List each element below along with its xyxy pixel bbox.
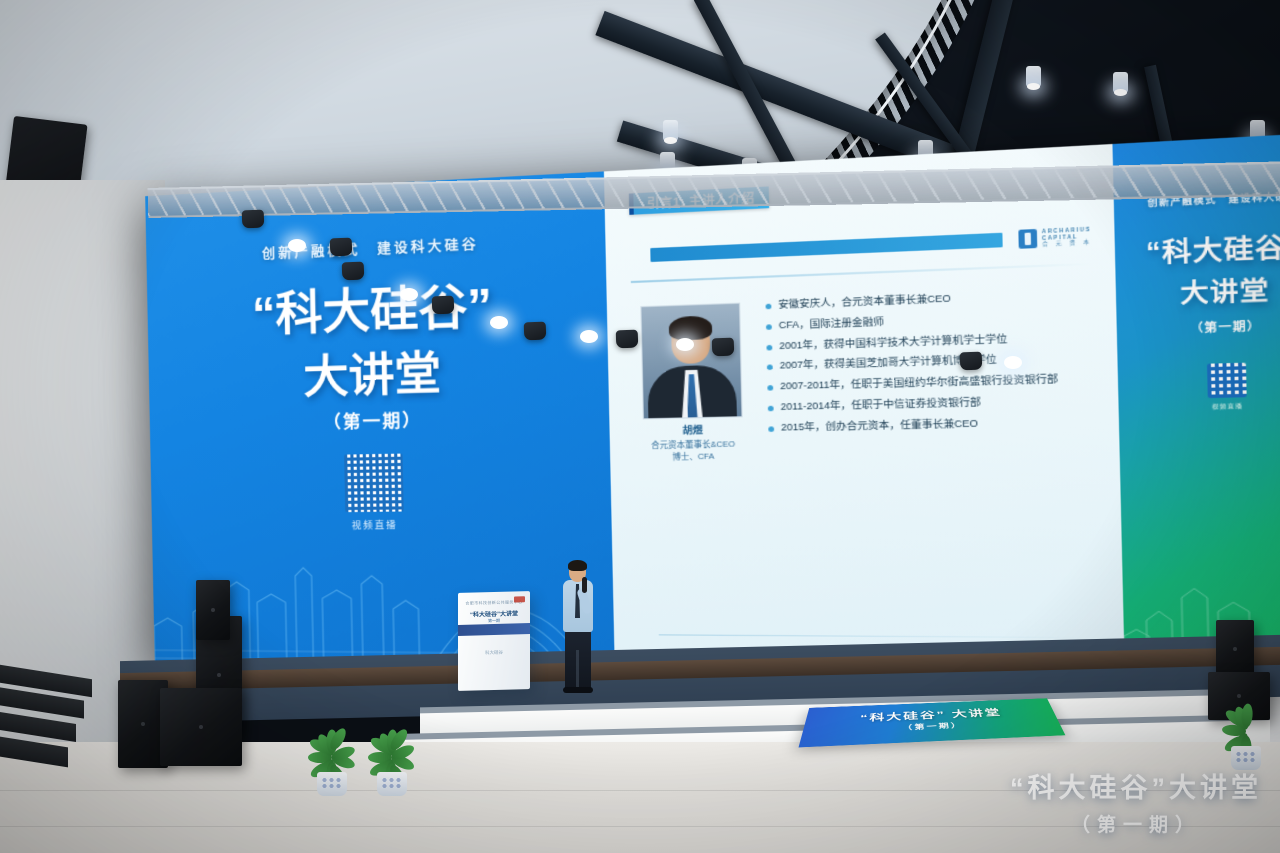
archarius-capital-logo: ARCHARIUS CAPITAL 合 元 资 本 [1018,227,1092,249]
potted-plant [352,726,432,796]
podium-lower-label: 科大硅谷 [458,649,530,657]
bio-bullet-item: 2007-2011年，任职于美国纽约华尔街高盛银行投资银行部 [767,372,1093,393]
stage-event-photo: 创新产融模式 建设科大硅谷 “科大硅谷” 大讲堂 （第一期） 视频直播 引言1:… [0,0,1280,853]
truss-spotlight [676,338,694,351]
bullet-dot-icon [767,385,773,391]
handheld-microphone [582,577,587,593]
slide-divider-top [631,263,1093,283]
bio-bullet-text: 安徽安庆人，合元资本董事长兼CEO [778,293,951,312]
speaker-name-block: 胡煜 合元资本董事长&CEO 博士、CFA [627,421,760,464]
photo-watermark: “科大硅谷”大讲堂 （第一期） [1010,772,1262,837]
stage-speaker-cabinet [1216,620,1254,678]
qr-caption-left: 视频直播 [152,516,612,533]
bio-bullet-item: 2015年，创办合元资本，任董事长兼CEO [768,415,1094,434]
presenter-shoes [563,687,593,693]
bullet-dot-icon [766,304,772,310]
speaker-credentials: 博士、CFA [628,450,760,464]
portrait-hair [669,316,713,341]
plant-pot [377,772,407,796]
bio-bullet-item: CFA，国际注册金融师 [766,309,1092,332]
bio-bullet-item: 2001年，获得中国科学技术大学计算机学士学位 [766,330,1092,352]
bullet-dot-icon [766,324,772,330]
ceiling-downlight [663,120,678,141]
moving-head-light [330,238,353,257]
panel-left-tagline: 创新产融模式 建设科大硅谷 [146,227,605,267]
lectern-podium: 合肥市科技创新公共服务中心 “科大硅谷”大讲堂 第一期 科大硅谷 [458,591,530,691]
bio-bullet-item: 安徽安庆人，合元资本董事长兼CEO [765,288,1090,312]
bio-bullet-text: CFA，国际注册金融师 [779,316,885,332]
panel-right-title: “科大硅谷” [1115,223,1280,271]
slide-divider-bottom [659,634,1086,638]
truss-spotlight [400,288,418,301]
plant-leaves [1206,700,1280,752]
bullet-dot-icon [768,405,774,411]
bullet-dot-icon [767,365,773,371]
truss-spotlight [1004,356,1022,369]
bio-bullet-item: 2007年，获得美国芝加哥大学计算机博士学位 [767,351,1093,373]
bio-bullet-item: 2011-2014年，任职于中信证券投资银行部 [768,394,1094,414]
moving-head-light [242,210,265,229]
bullet-dot-icon [766,344,772,350]
plant-pot [317,772,347,796]
moving-head-light [712,338,735,357]
truss-spotlight [580,330,598,343]
panel-right-subtitle: （第一期） [1117,314,1280,338]
bio-bullet-text: 2011-2014年，任职于中信证券投资银行部 [780,396,981,413]
speaker-bio-bullet-list: 安徽安庆人，合元资本董事长兼CEO CFA，国际注册金融师 2001年，获得中国… [765,288,1094,442]
qr-code-right-panel[interactable] [1207,363,1247,398]
moving-head-light [524,322,547,341]
speaker-portrait-photo [640,303,742,420]
presenter-person [557,562,599,694]
moving-head-light [342,262,365,281]
ceiling-downlight [1026,66,1041,87]
logo-text: ARCHARIUS CAPITAL 合 元 资 本 [1042,227,1092,248]
logo-mark-icon [1018,229,1037,249]
plant-leaves [352,726,432,778]
moving-head-light [432,296,455,315]
stage-speaker-cabinet [196,580,230,640]
led-panel-right: 创新产融模式 建设科大硅谷 “科大硅谷” 大讲堂 （第一期） 视频直播 [1112,132,1280,679]
logo-cn-line: 合 元 资 本 [1042,239,1092,247]
bio-bullet-text: 2001年，获得中国科学技术大学计算机学士学位 [779,333,1007,352]
led-panel-center-slide: 引言1: 主讲人介绍 ARCHARIUS CAPITAL 合 元 资 本 [604,144,1125,677]
moving-head-light [960,352,983,371]
plant-pot [1231,746,1261,770]
ceiling-downlight [1113,72,1128,93]
stage-subwoofer-cabinet [160,688,242,766]
bullet-dot-icon [768,426,774,432]
qr-caption-right: 视频直播 [1119,400,1280,413]
panel-right-title-2: 大讲堂 [1116,267,1280,312]
bio-bullet-text: 2015年，创办合元资本，任董事长兼CEO [781,417,978,433]
bio-bullet-text: 2007-2011年，任职于美国纽约华尔街高盛银行投资银行部 [780,373,1058,392]
watermark-line-1: “科大硅谷”大讲堂 [1010,772,1262,806]
podium-emblem-icon [514,596,525,602]
qr-code-left-panel[interactable] [344,454,404,513]
moving-head-light [616,330,639,349]
potted-plant [1206,700,1280,770]
podium-blue-band [458,623,530,636]
speaker-name: 胡煜 [627,421,759,438]
side-stairs-left [0,672,120,782]
slide-accent-bar [650,233,1002,262]
presenter-leg-gap [576,650,579,688]
truss-spotlight [490,316,508,329]
truss-spotlight [288,239,306,252]
watermark-line-2: （第一期） [1010,810,1262,837]
stair-step [0,737,68,768]
presenter-hair [568,560,587,571]
